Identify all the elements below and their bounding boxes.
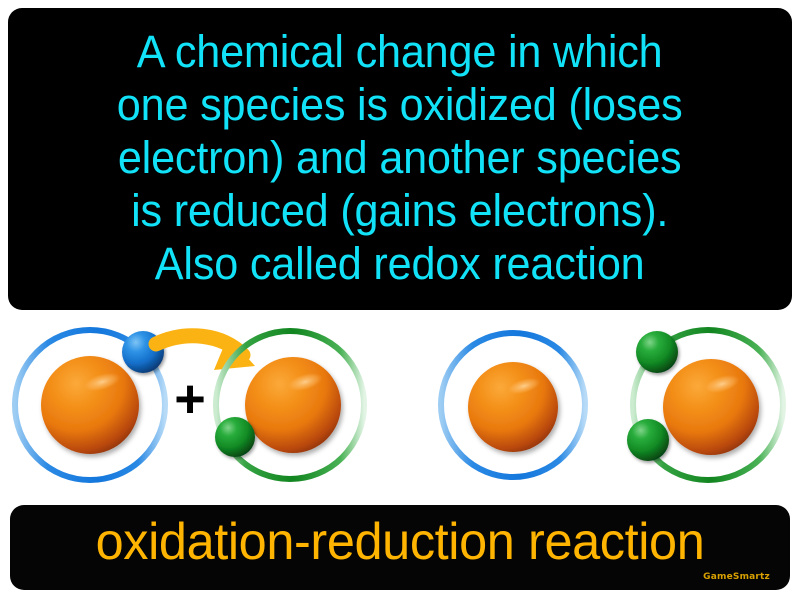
- electron-green-upper: [636, 331, 678, 373]
- watermark-label: GameSmartz: [703, 572, 770, 582]
- product-atom-oxidized: [441, 333, 585, 477]
- reactant-atom-acceptor: [215, 331, 364, 479]
- redox-diagram: +: [0, 312, 800, 500]
- nucleus: [245, 357, 341, 453]
- nucleus: [468, 362, 558, 452]
- term-title: oxidation-reduction reaction: [22, 511, 779, 573]
- electron-green-lower: [627, 419, 669, 461]
- flashcard: A chemical change in which one species i…: [0, 0, 800, 600]
- illustration-panel: +: [0, 312, 800, 500]
- definition-panel: A chemical change in which one species i…: [8, 8, 792, 310]
- electron-green: [215, 417, 255, 457]
- reactant-atom-donor: [15, 330, 165, 480]
- plus-operator: +: [174, 369, 206, 429]
- term-panel: oxidation-reduction reaction GameSmartz: [10, 505, 790, 590]
- nucleus: [41, 356, 139, 454]
- definition-text: A chemical change in which one species i…: [117, 25, 683, 290]
- product-atom-reduced: [627, 330, 783, 480]
- nucleus: [663, 359, 759, 455]
